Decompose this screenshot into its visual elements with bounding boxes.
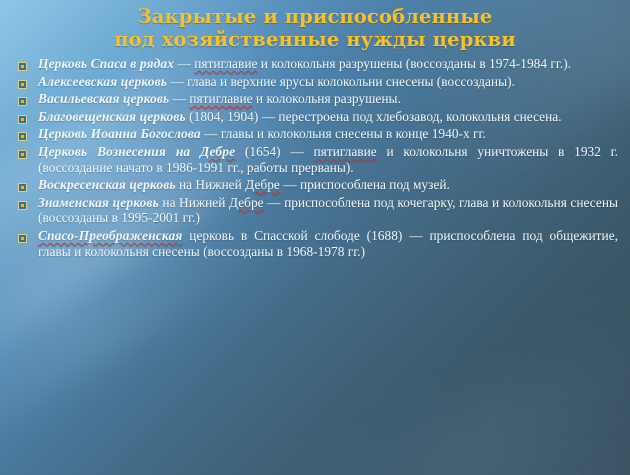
square-bullet-icon	[18, 132, 27, 141]
square-bullet-icon	[18, 115, 27, 124]
text-segment: — главы и колокольня снесены в конце 194…	[201, 126, 486, 141]
misspelled-word: пятиглавие	[189, 91, 252, 106]
text-segment: (1804, 1904) — перестроена под хлебозаво…	[186, 109, 562, 124]
misspelled-word: Дебре	[200, 144, 235, 159]
list-item: Церковь Вознесения на Дебре (1654) — пят…	[0, 144, 618, 175]
list-item: Церковь Иоанна Богослова — главы и колок…	[0, 126, 618, 142]
square-bullet-icon	[18, 234, 27, 243]
list-item: Церковь Спаса в рядах — пятиглавие и кол…	[0, 56, 618, 72]
list-item: Алексеевская церковь — глава и верхние я…	[0, 74, 618, 90]
square-bullet-icon	[18, 80, 27, 89]
misspelled-word: Дебре	[229, 195, 264, 210]
text-segment: —	[169, 91, 189, 106]
text-segment: и колокольня разрушены.	[253, 91, 401, 106]
slide-title-line-1: Закрытые и приспособленные	[30, 5, 600, 28]
list-item: Знаменская церковь на Нижней Дебре — при…	[0, 195, 618, 226]
list-item: Васильевская церковь — пятиглавие и коло…	[0, 91, 618, 107]
misspelled-word: пятиглавие	[314, 144, 377, 159]
text-segment: на Нижней	[176, 177, 246, 192]
list-item-text: Спасо-Преображенская церковь в Спасской …	[38, 228, 618, 259]
church-name: Васильевская церковь	[38, 91, 169, 106]
square-bullet-icon	[18, 62, 27, 71]
list-item: Спасо-Преображенская церковь в Спасской …	[0, 228, 618, 259]
list-item-text: Церковь Иоанна Богослова — главы и колок…	[38, 126, 618, 142]
square-bullet-icon	[18, 150, 27, 159]
church-name: Знаменская церковь	[38, 195, 159, 210]
misspelled-word: Дебре	[245, 177, 280, 192]
list-item-text: Церковь Вознесения на Дебре (1654) — пят…	[38, 144, 618, 175]
church-name: Церковь Спаса в рядах	[38, 56, 174, 71]
presentation-slide: Закрытые и приспособленные под хозяйстве…	[0, 0, 630, 475]
text-segment: — приспособлена под музей.	[280, 177, 450, 192]
church-name: Церковь Вознесения на	[38, 144, 200, 159]
church-name: Воскресенская церковь	[38, 177, 176, 192]
square-bullet-icon	[18, 183, 27, 192]
list-item-text: Алексеевская церковь — глава и верхние я…	[38, 74, 618, 90]
text-segment: — глава и верхние ярусы колокольни снесе…	[167, 74, 515, 89]
misspelled-word: пятиглавие	[194, 56, 257, 71]
text-segment: на Нижней	[159, 195, 229, 210]
church-name: Благовещенская церковь	[38, 109, 186, 124]
text-segment: и колокольня разрушены (воссозданы в 197…	[257, 56, 571, 71]
church-name: Церковь Иоанна Богослова	[38, 126, 201, 141]
background-shadow-streak	[226, 293, 630, 475]
list-item-text: Церковь Спаса в рядах — пятиглавие и кол…	[38, 56, 618, 72]
text-segment: (1654) —	[235, 144, 313, 159]
list-item-text: Благовещенская церковь (1804, 1904) — пе…	[38, 109, 618, 125]
church-list: Церковь Спаса в рядах — пятиглавие и кол…	[0, 53, 630, 259]
text-segment: —	[174, 56, 194, 71]
list-item-text: Васильевская церковь — пятиглавие и коло…	[38, 91, 618, 107]
square-bullet-icon	[18, 97, 27, 106]
slide-title: Закрытые и приспособленные под хозяйстве…	[0, 0, 630, 53]
list-item-text: Знаменская церковь на Нижней Дебре — при…	[38, 195, 618, 226]
list-item: Воскресенская церковь на Нижней Дебре — …	[0, 177, 618, 193]
church-name: Спасо-Преображенская	[38, 228, 182, 243]
list-item: Благовещенская церковь (1804, 1904) — пе…	[0, 109, 618, 125]
church-name: Алексеевская церковь	[38, 74, 167, 89]
list-item-text: Воскресенская церковь на Нижней Дебре — …	[38, 177, 618, 193]
slide-title-line-2: под хозяйственные нужды церкви	[30, 28, 600, 51]
square-bullet-icon	[18, 201, 27, 210]
